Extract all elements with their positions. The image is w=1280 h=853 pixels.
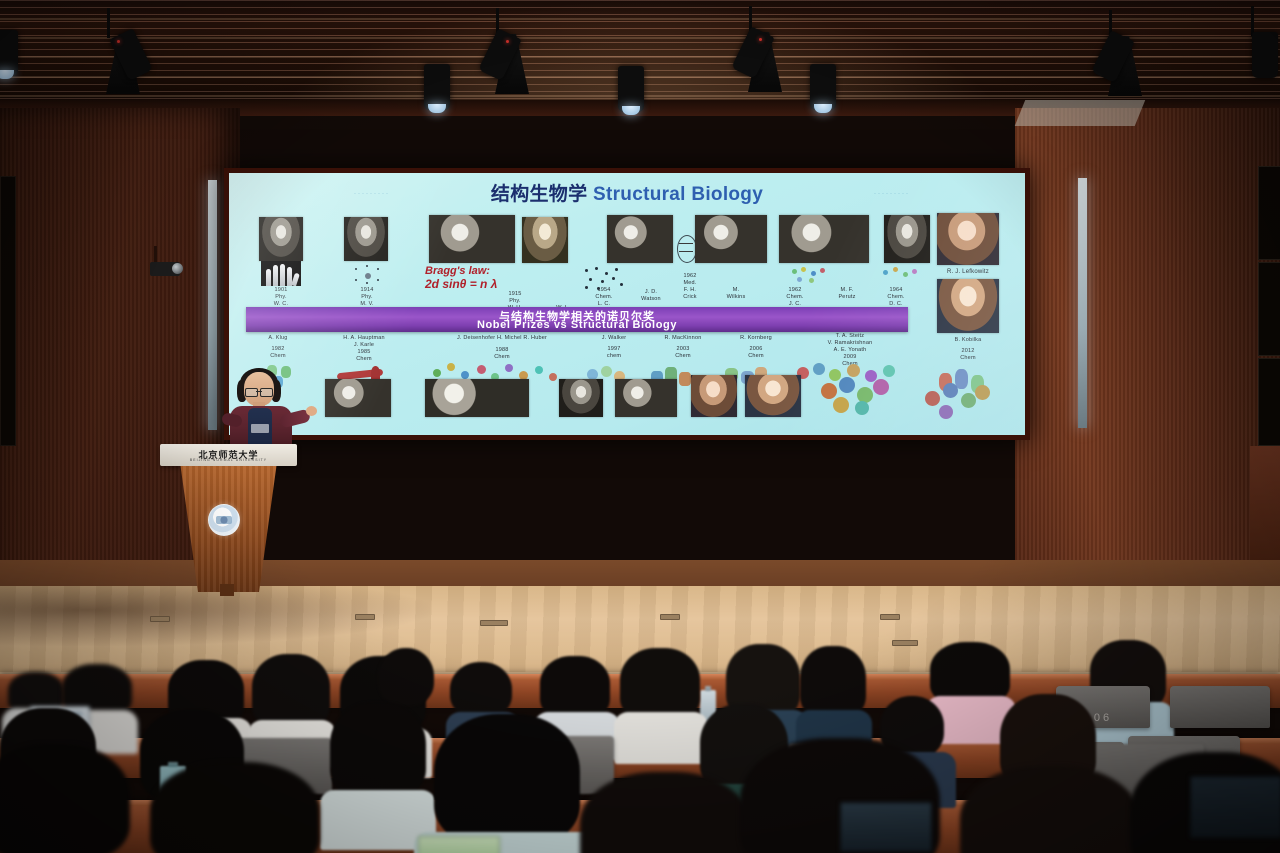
slide-title-en: Structural Biology bbox=[593, 184, 763, 205]
caption-mackinnon: R. MacKinnon 2003 Chem bbox=[647, 335, 719, 360]
caption-year: 1914 bbox=[337, 287, 397, 294]
caption-name: Perutz bbox=[821, 294, 873, 301]
portrait-roentgen bbox=[259, 217, 303, 261]
caption-name: Crick bbox=[665, 294, 715, 301]
wall-panel bbox=[1258, 358, 1280, 446]
audience-area: 06 06 02 04 bbox=[0, 586, 1280, 853]
portrait-walker bbox=[559, 379, 603, 417]
gpcr-model-graphic bbox=[919, 379, 997, 423]
portrait-wilkins-group bbox=[695, 215, 767, 263]
caption-name: A. Klug bbox=[247, 335, 309, 342]
caption-field: Phy. bbox=[491, 298, 539, 305]
portrait-pauling bbox=[522, 217, 568, 263]
caption-year: 1962 bbox=[665, 273, 715, 280]
insulin-structure-graphic bbox=[879, 265, 921, 285]
caption-field: Phy. bbox=[337, 294, 397, 301]
caption-name: R. Kornberg bbox=[721, 335, 791, 342]
podium-top: 北京师范大学 BEIJING NORMAL UNIVERSITY bbox=[160, 444, 297, 466]
caption-year: 2012 bbox=[929, 348, 1007, 355]
slide-title-cn: 结构生物学 bbox=[491, 184, 588, 205]
portrait-watson-crick bbox=[607, 215, 673, 263]
caption-name-c: A. E. Yonath bbox=[795, 347, 905, 354]
caption-field: Chem bbox=[321, 356, 407, 363]
caption-field: Chem. bbox=[769, 294, 821, 301]
seat-back bbox=[1170, 686, 1270, 728]
bragg-law-formula: 2d sinθ = n λ bbox=[425, 277, 497, 291]
caption-field: Chem bbox=[247, 353, 309, 360]
portrait-lefkowitz bbox=[937, 213, 999, 265]
laptop-screen bbox=[1190, 776, 1280, 838]
caption-year: 1954 bbox=[577, 287, 631, 294]
right-wall bbox=[1015, 108, 1280, 608]
caption-year: 2003 bbox=[647, 346, 719, 353]
presenter-hand-right bbox=[306, 406, 317, 416]
caption-perutz: M. F. Perutz bbox=[821, 287, 873, 301]
portrait-hodgkin bbox=[884, 215, 930, 263]
caption-field: Chem bbox=[647, 353, 719, 360]
bragg-law-label: Bragg's law: bbox=[425, 265, 490, 277]
audience-member-foreground bbox=[580, 772, 750, 853]
projector bbox=[150, 262, 180, 276]
glasses-icon bbox=[245, 388, 273, 395]
wall-panel bbox=[1258, 262, 1280, 356]
diffraction-pattern bbox=[347, 263, 387, 285]
audience-member-foreground bbox=[960, 766, 1140, 853]
portrait-kobilka bbox=[937, 279, 999, 333]
portrait-mackinnon-kornberg bbox=[615, 379, 677, 417]
caption-name: M. F. bbox=[821, 287, 873, 294]
caption-name: T. A. Steitz bbox=[795, 333, 905, 340]
caption-name: R. J. Lefkowitz bbox=[931, 269, 1005, 276]
portrait-deisenhofer-michel-huber bbox=[425, 379, 529, 417]
caption-deisenhofer-michel-huber: J. Deisenhofer H. Michel R. Huber 1988 C… bbox=[425, 335, 579, 361]
laptop-screen bbox=[840, 802, 932, 852]
ceiling-slat bbox=[0, 18, 1280, 20]
ceiling-slat bbox=[0, 37, 1280, 39]
caption-year: 1962 bbox=[769, 287, 821, 294]
portrait-kendrew-perutz bbox=[779, 215, 869, 263]
caption-year: 1985 bbox=[321, 349, 407, 356]
caption-name: H. A. Hauptman bbox=[321, 335, 407, 342]
caption-year: 1982 bbox=[247, 346, 309, 353]
caption-year: 1901 bbox=[251, 287, 311, 294]
protein-structure-graphic bbox=[789, 265, 829, 285]
caption-field: Phy. bbox=[251, 294, 311, 301]
wall-light-strip bbox=[208, 180, 217, 430]
xray-hand-image bbox=[261, 261, 301, 286]
ceiling-slat bbox=[0, 56, 1280, 58]
caption-name: J. Deisenhofer H. Michel R. Huber bbox=[425, 335, 579, 342]
caption-name-b: V. Ramakrishnan bbox=[795, 340, 905, 347]
wall-wainscot bbox=[1250, 446, 1280, 576]
caption-kobilka: B. Kobilka 2012 Chem bbox=[929, 337, 1007, 362]
ribosome-model-graphic bbox=[815, 373, 901, 417]
caption-kornberg: R. Kornberg 2006 Chem bbox=[721, 335, 791, 360]
caption-name: M. bbox=[711, 287, 761, 294]
caption-field: Chem bbox=[929, 355, 1007, 362]
caption-name: Wilkins bbox=[711, 294, 761, 301]
wall-panel bbox=[1258, 166, 1280, 260]
presenter bbox=[218, 372, 308, 450]
wall-panel bbox=[0, 176, 16, 446]
audience-member-foreground bbox=[0, 744, 130, 853]
portrait-ramakrishnan-yonath bbox=[745, 375, 801, 417]
tablet-device bbox=[418, 836, 500, 853]
caption-name-b: J. Karle bbox=[321, 342, 407, 349]
audience-member bbox=[330, 702, 426, 814]
caption-field: Chem. bbox=[577, 294, 631, 301]
caption-field: Chem. bbox=[869, 294, 923, 301]
caption-lefkowitz: R. J. Lefkowitz bbox=[931, 269, 1005, 276]
caption-field: Chem bbox=[721, 353, 791, 360]
banner-title-en: Nobel Prizes vs Structural Biology bbox=[246, 319, 908, 331]
caption-year: 1988 bbox=[425, 347, 579, 354]
portrait-steitz bbox=[691, 375, 737, 417]
caption-klug: A. Klug 1982 Chem bbox=[247, 335, 309, 360]
caption-wilkins: M. Wilkins bbox=[711, 287, 761, 301]
lecture-hall-photo: ········· ········· 结构生物学 Structural Bio… bbox=[0, 0, 1280, 853]
nobel-banner: 与结构生物学相关的诺贝尔奖 Nobel Prizes vs Structural… bbox=[246, 307, 908, 332]
podium: 北京师范大学 BEIJING NORMAL UNIVERSITY bbox=[160, 444, 297, 592]
projection-screen: ········· ········· 结构生物学 Structural Bio… bbox=[224, 168, 1030, 440]
caption-year: 1915 bbox=[491, 291, 539, 298]
audience-member bbox=[800, 646, 866, 738]
wall-light-strip bbox=[1078, 178, 1087, 428]
audience-member-foreground bbox=[434, 714, 580, 853]
caption-name: J. Walker bbox=[585, 335, 643, 342]
presentation-slide: ········· ········· 结构生物学 Structural Bio… bbox=[229, 173, 1025, 435]
caption-year: 1997 bbox=[585, 346, 643, 353]
caption-walker: J. Walker 1997 chem bbox=[585, 335, 643, 360]
portrait-laue bbox=[344, 217, 388, 261]
caption-crick: 1962 Med. F. H. Crick bbox=[665, 273, 715, 301]
audience-member bbox=[620, 648, 700, 738]
caption-year: 2006 bbox=[721, 346, 791, 353]
audience-member bbox=[252, 654, 330, 744]
podium-university-en: BEIJING NORMAL UNIVERSITY bbox=[160, 458, 297, 462]
caption-hauptman-karle: H. A. Hauptman J. Karle 1985 Chem bbox=[321, 335, 407, 363]
caption-name: F. H. bbox=[665, 287, 715, 294]
slide-title: 结构生物学 Structural Biology bbox=[229, 179, 1025, 206]
ceiling-soffit bbox=[1015, 100, 1146, 126]
caption-year: 1964 bbox=[869, 287, 923, 294]
portrait-bragg-pair bbox=[429, 215, 515, 263]
audience-member-foreground bbox=[150, 762, 320, 853]
portrait-hauptman-karle bbox=[325, 379, 391, 417]
caption-field: Med. bbox=[665, 280, 715, 287]
audience-member bbox=[450, 662, 512, 722]
caption-name: R. MacKinnon bbox=[647, 335, 719, 342]
caption-name: B. Kobilka bbox=[929, 337, 1007, 344]
university-seal-icon bbox=[208, 504, 240, 536]
caption-field: chem bbox=[585, 353, 643, 360]
